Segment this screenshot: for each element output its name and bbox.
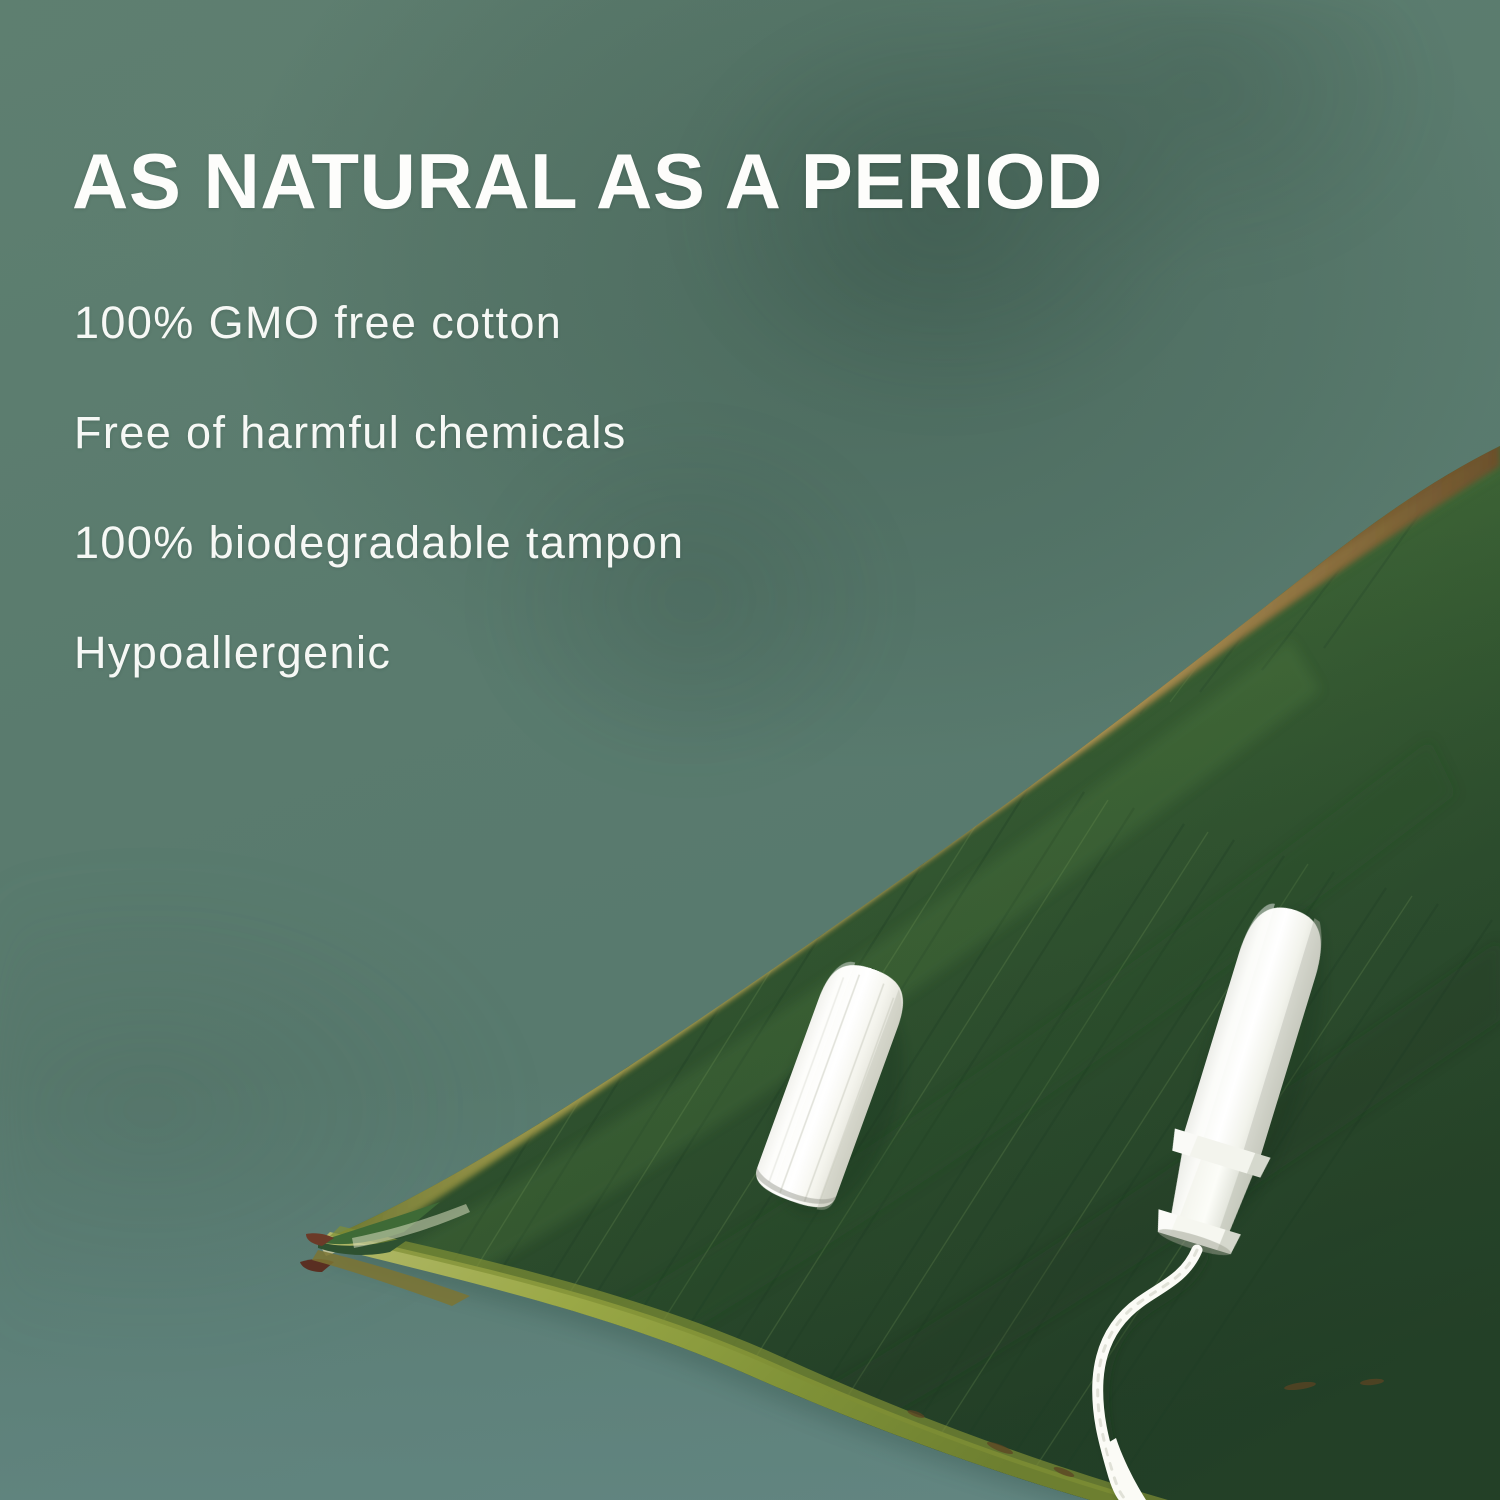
list-item: Free of harmful chemicals bbox=[74, 410, 974, 455]
page-title: AS NATURAL AS A PERIOD bbox=[72, 142, 1103, 220]
list-item: 100% GMO free cotton bbox=[74, 300, 974, 345]
list-item: 100% biodegradable tampon bbox=[74, 520, 974, 565]
product-lifestyle-image: AS NATURAL AS A PERIOD 100% GMO free cot… bbox=[0, 0, 1500, 1500]
leaf-illustration bbox=[0, 0, 1500, 1500]
benefits-list: 100% GMO free cotton Free of harmful che… bbox=[74, 300, 974, 675]
list-item: Hypoallergenic bbox=[74, 630, 974, 675]
